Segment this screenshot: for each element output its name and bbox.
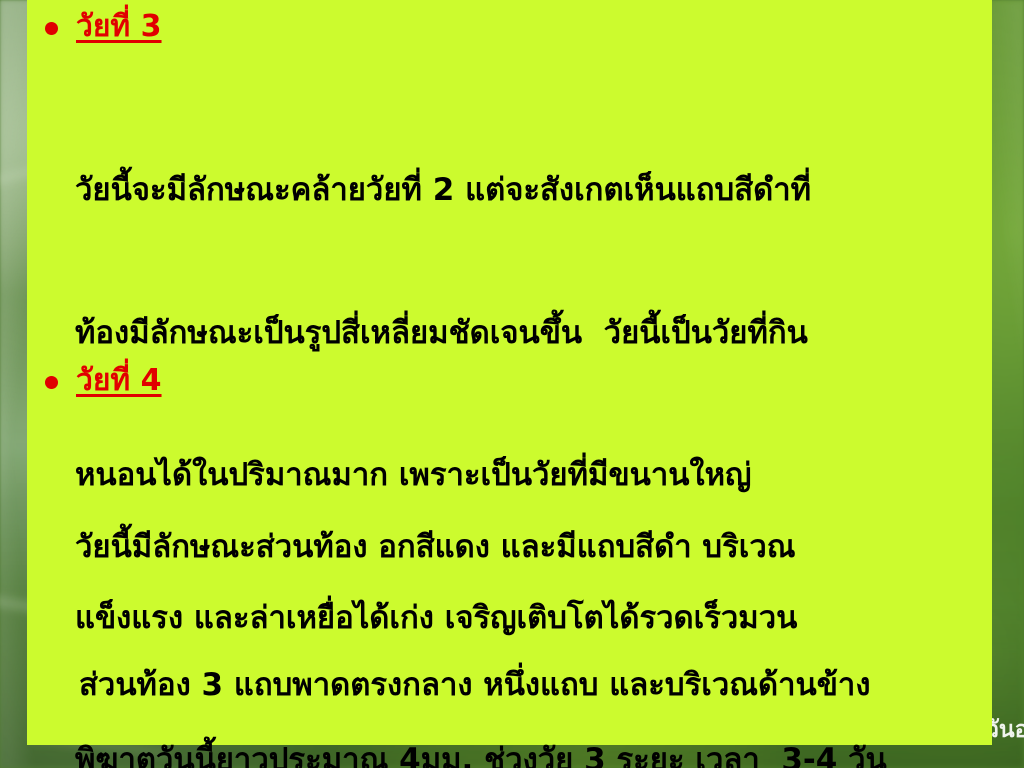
body-line: วัยนี้จะมีลักษณะคล้ายวัยที่ 2 แต่จะสังเก… [75,167,887,215]
body-line: ท้องมีลักษณะเป็นรูปสี่เหลี่ยมชัดเจนขึ้น … [75,310,887,358]
body-line: ส่วนท้อง 3 แถบพาดตรงกลาง หนึ่งแถบ และบริ… [75,662,871,708]
bullet-heading-row-2: วัยที่ 4 [45,360,162,402]
section-body-2: วัยนี้มีลักษณะส่วนท้อง อกสีแดง และมีแถบส… [75,432,871,768]
footer-clipped-region: วันอ [992,712,1024,746]
section-heading-2: วัยที่ 4 [76,360,162,402]
footer-clipped-text: วันอ [992,712,1024,746]
bullet-dot-icon [45,376,58,389]
presentation-slide: วัยที่ 3 วัยนี้จะมีลักษณะคล้ายวัยที่ 2 แ… [0,0,1024,768]
bullet-heading-row-1: วัยที่ 3 [45,6,162,48]
bullet-dot-icon [45,22,58,35]
section-heading-1: วัยที่ 3 [76,6,162,48]
body-line: วัยนี้มีลักษณะส่วนท้อง อกสีแดง และมีแถบส… [75,524,871,570]
